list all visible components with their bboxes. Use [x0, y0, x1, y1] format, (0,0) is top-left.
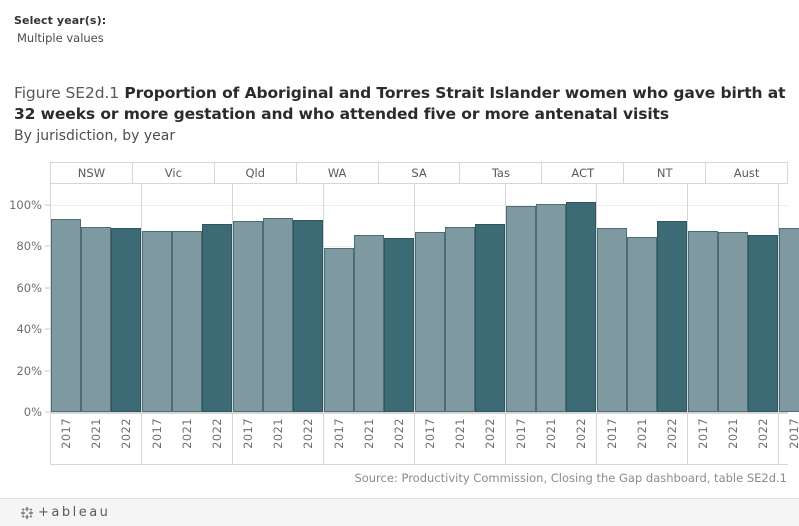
x-axis-tick-label: 2021 — [718, 414, 748, 465]
tableau-wordmark: +ableau — [38, 505, 110, 520]
bar-sa-2021[interactable] — [445, 227, 475, 413]
bar-nt-2021[interactable] — [718, 232, 748, 412]
panel-header-qld: Qld — [215, 163, 297, 183]
x-axis-tick-label: 2021 — [445, 414, 475, 465]
x-axis-tick-label: 2017 — [142, 414, 172, 465]
title-block: Figure SE2d.1 Proportion of Aboriginal a… — [14, 83, 789, 146]
x-axis-tick-label: 2021 — [354, 414, 384, 465]
y-axis-tick-label: 20% — [16, 364, 42, 378]
panel-header-act: ACT — [542, 163, 624, 183]
panel-header-sa: SA — [379, 163, 461, 183]
x-axis-tick-label: 2022 — [475, 414, 505, 465]
x-axis-tick-label: 2017 — [415, 414, 445, 465]
bar-act-2021[interactable] — [627, 237, 657, 412]
year-filter-value[interactable]: Multiple values — [14, 31, 106, 46]
x-axis-bottom-line — [50, 464, 788, 465]
panel-qld — [233, 184, 324, 412]
bar-tas-2017[interactable] — [506, 206, 536, 412]
figure-title-text: Proportion of Aboriginal and Torres Stra… — [14, 84, 785, 123]
bar-vic-2017[interactable] — [142, 231, 172, 412]
panel-nsw — [51, 184, 142, 412]
x-axis-tick-label: 2017 — [233, 414, 263, 465]
bar-nt-2017[interactable] — [688, 231, 718, 412]
bar-sa-2017[interactable] — [415, 232, 445, 412]
panel-header-vic: Vic — [133, 163, 215, 183]
source-note: Source: Productivity Commission, Closing… — [354, 471, 787, 485]
figure-number: Figure SE2d.1 — [14, 84, 119, 102]
x-axis-tick-label: 2021 — [81, 414, 111, 465]
bar-sa-2022[interactable] — [475, 224, 505, 412]
panel-header-nt: NT — [624, 163, 706, 183]
x-axis-tick-label: 2021 — [172, 414, 202, 465]
panel-header-wa: WA — [297, 163, 379, 183]
x-axis-tick-label: 2021 — [627, 414, 657, 465]
x-axis-panel-vic: 201720212022 — [142, 414, 233, 465]
y-axis-tick-label: 100% — [9, 198, 42, 212]
bar-act-2022[interactable] — [657, 221, 687, 412]
bar-aust-2017[interactable] — [779, 228, 799, 412]
x-axis-tick-label: 2017 — [779, 414, 799, 465]
panel-tas — [506, 184, 597, 412]
x-axis-tick-label: 2017 — [51, 414, 81, 465]
panel-header-row: NSWVicQldWASATasACTNTAust — [50, 162, 788, 184]
bar-vic-2021[interactable] — [172, 231, 202, 412]
panel-nt — [688, 184, 779, 412]
x-axis-tick-label: 2022 — [293, 414, 323, 465]
panel-wa — [324, 184, 415, 412]
year-filter-label: Select year(s): — [14, 14, 106, 28]
x-axis-tick-label: 2017 — [688, 414, 718, 465]
bar-wa-2017[interactable] — [324, 248, 354, 412]
x-axis-tick-label: 2017 — [506, 414, 536, 465]
x-axis-tick-label: 2022 — [566, 414, 596, 465]
x-axis-tick-label: 2022 — [748, 414, 778, 465]
plot-area — [50, 184, 788, 412]
x-axis-tick-label: 2017 — [324, 414, 354, 465]
bar-nsw-2021[interactable] — [81, 227, 111, 413]
x-axis-tick-label: 2022 — [384, 414, 414, 465]
panel-header-aust: Aust — [706, 163, 788, 183]
bar-nt-2022[interactable] — [748, 235, 778, 412]
x-axis-tick-label: 2022 — [202, 414, 232, 465]
panel-aust — [779, 184, 799, 412]
panel-vic — [142, 184, 233, 412]
x-axis-panel-nsw: 201720212022 — [51, 414, 142, 465]
x-axis-tick-label: 2017 — [597, 414, 627, 465]
y-axis-tick-label: 0% — [24, 405, 42, 419]
bar-nsw-2022[interactable] — [111, 228, 141, 412]
bar-act-2017[interactable] — [597, 228, 627, 412]
year-filter-control[interactable]: Select year(s): Multiple values — [14, 14, 106, 46]
page-title: Figure SE2d.1 Proportion of Aboriginal a… — [14, 83, 789, 125]
bar-qld-2022[interactable] — [293, 220, 323, 412]
panel-act — [597, 184, 688, 412]
tableau-footer: +ableau — [0, 498, 799, 526]
panel-header-nsw: NSW — [50, 163, 133, 183]
y-axis-tick-label: 60% — [16, 281, 42, 295]
bar-tas-2021[interactable] — [536, 204, 566, 412]
x-axis-tick-label: 2022 — [657, 414, 687, 465]
x-axis-panel-qld: 201720212022 — [233, 414, 324, 465]
bar-nsw-2017[interactable] — [51, 219, 81, 412]
x-axis: 2017202120222017202120222017202120222017… — [50, 413, 788, 465]
y-axis-tick-label: 40% — [16, 322, 42, 336]
bar-vic-2022[interactable] — [202, 224, 232, 412]
bar-wa-2021[interactable] — [354, 235, 384, 412]
x-axis-tick-label: 2021 — [263, 414, 293, 465]
x-axis-panel-act: 201720212022 — [597, 414, 688, 465]
x-axis-panel-sa: 201720212022 — [415, 414, 506, 465]
y-axis-tick-label: 80% — [16, 239, 42, 253]
x-axis-panel-wa: 201720212022 — [324, 414, 415, 465]
bar-tas-2022[interactable] — [566, 202, 596, 412]
panel-header-tas: Tas — [460, 163, 542, 183]
x-axis-tick-label: 2021 — [536, 414, 566, 465]
x-axis-panel-aust: 201720212022 — [779, 414, 799, 465]
x-axis-panel-tas: 201720212022 — [506, 414, 597, 465]
tableau-logo[interactable]: +ableau — [20, 505, 110, 520]
tableau-logo-icon — [20, 506, 34, 520]
bar-qld-2017[interactable] — [233, 221, 263, 412]
bar-chart: NSWVicQldWASATasACTNTAust — [50, 162, 788, 412]
panel-sa — [415, 184, 506, 412]
y-axis: 0%20%40%60%80%100% — [0, 184, 50, 412]
page-subtitle: By jurisdiction, by year — [14, 126, 789, 146]
x-axis-tick-label: 2022 — [111, 414, 141, 465]
bar-wa-2022[interactable] — [384, 238, 414, 412]
x-axis-panel-nt: 201720212022 — [688, 414, 779, 465]
bar-qld-2021[interactable] — [263, 218, 293, 412]
